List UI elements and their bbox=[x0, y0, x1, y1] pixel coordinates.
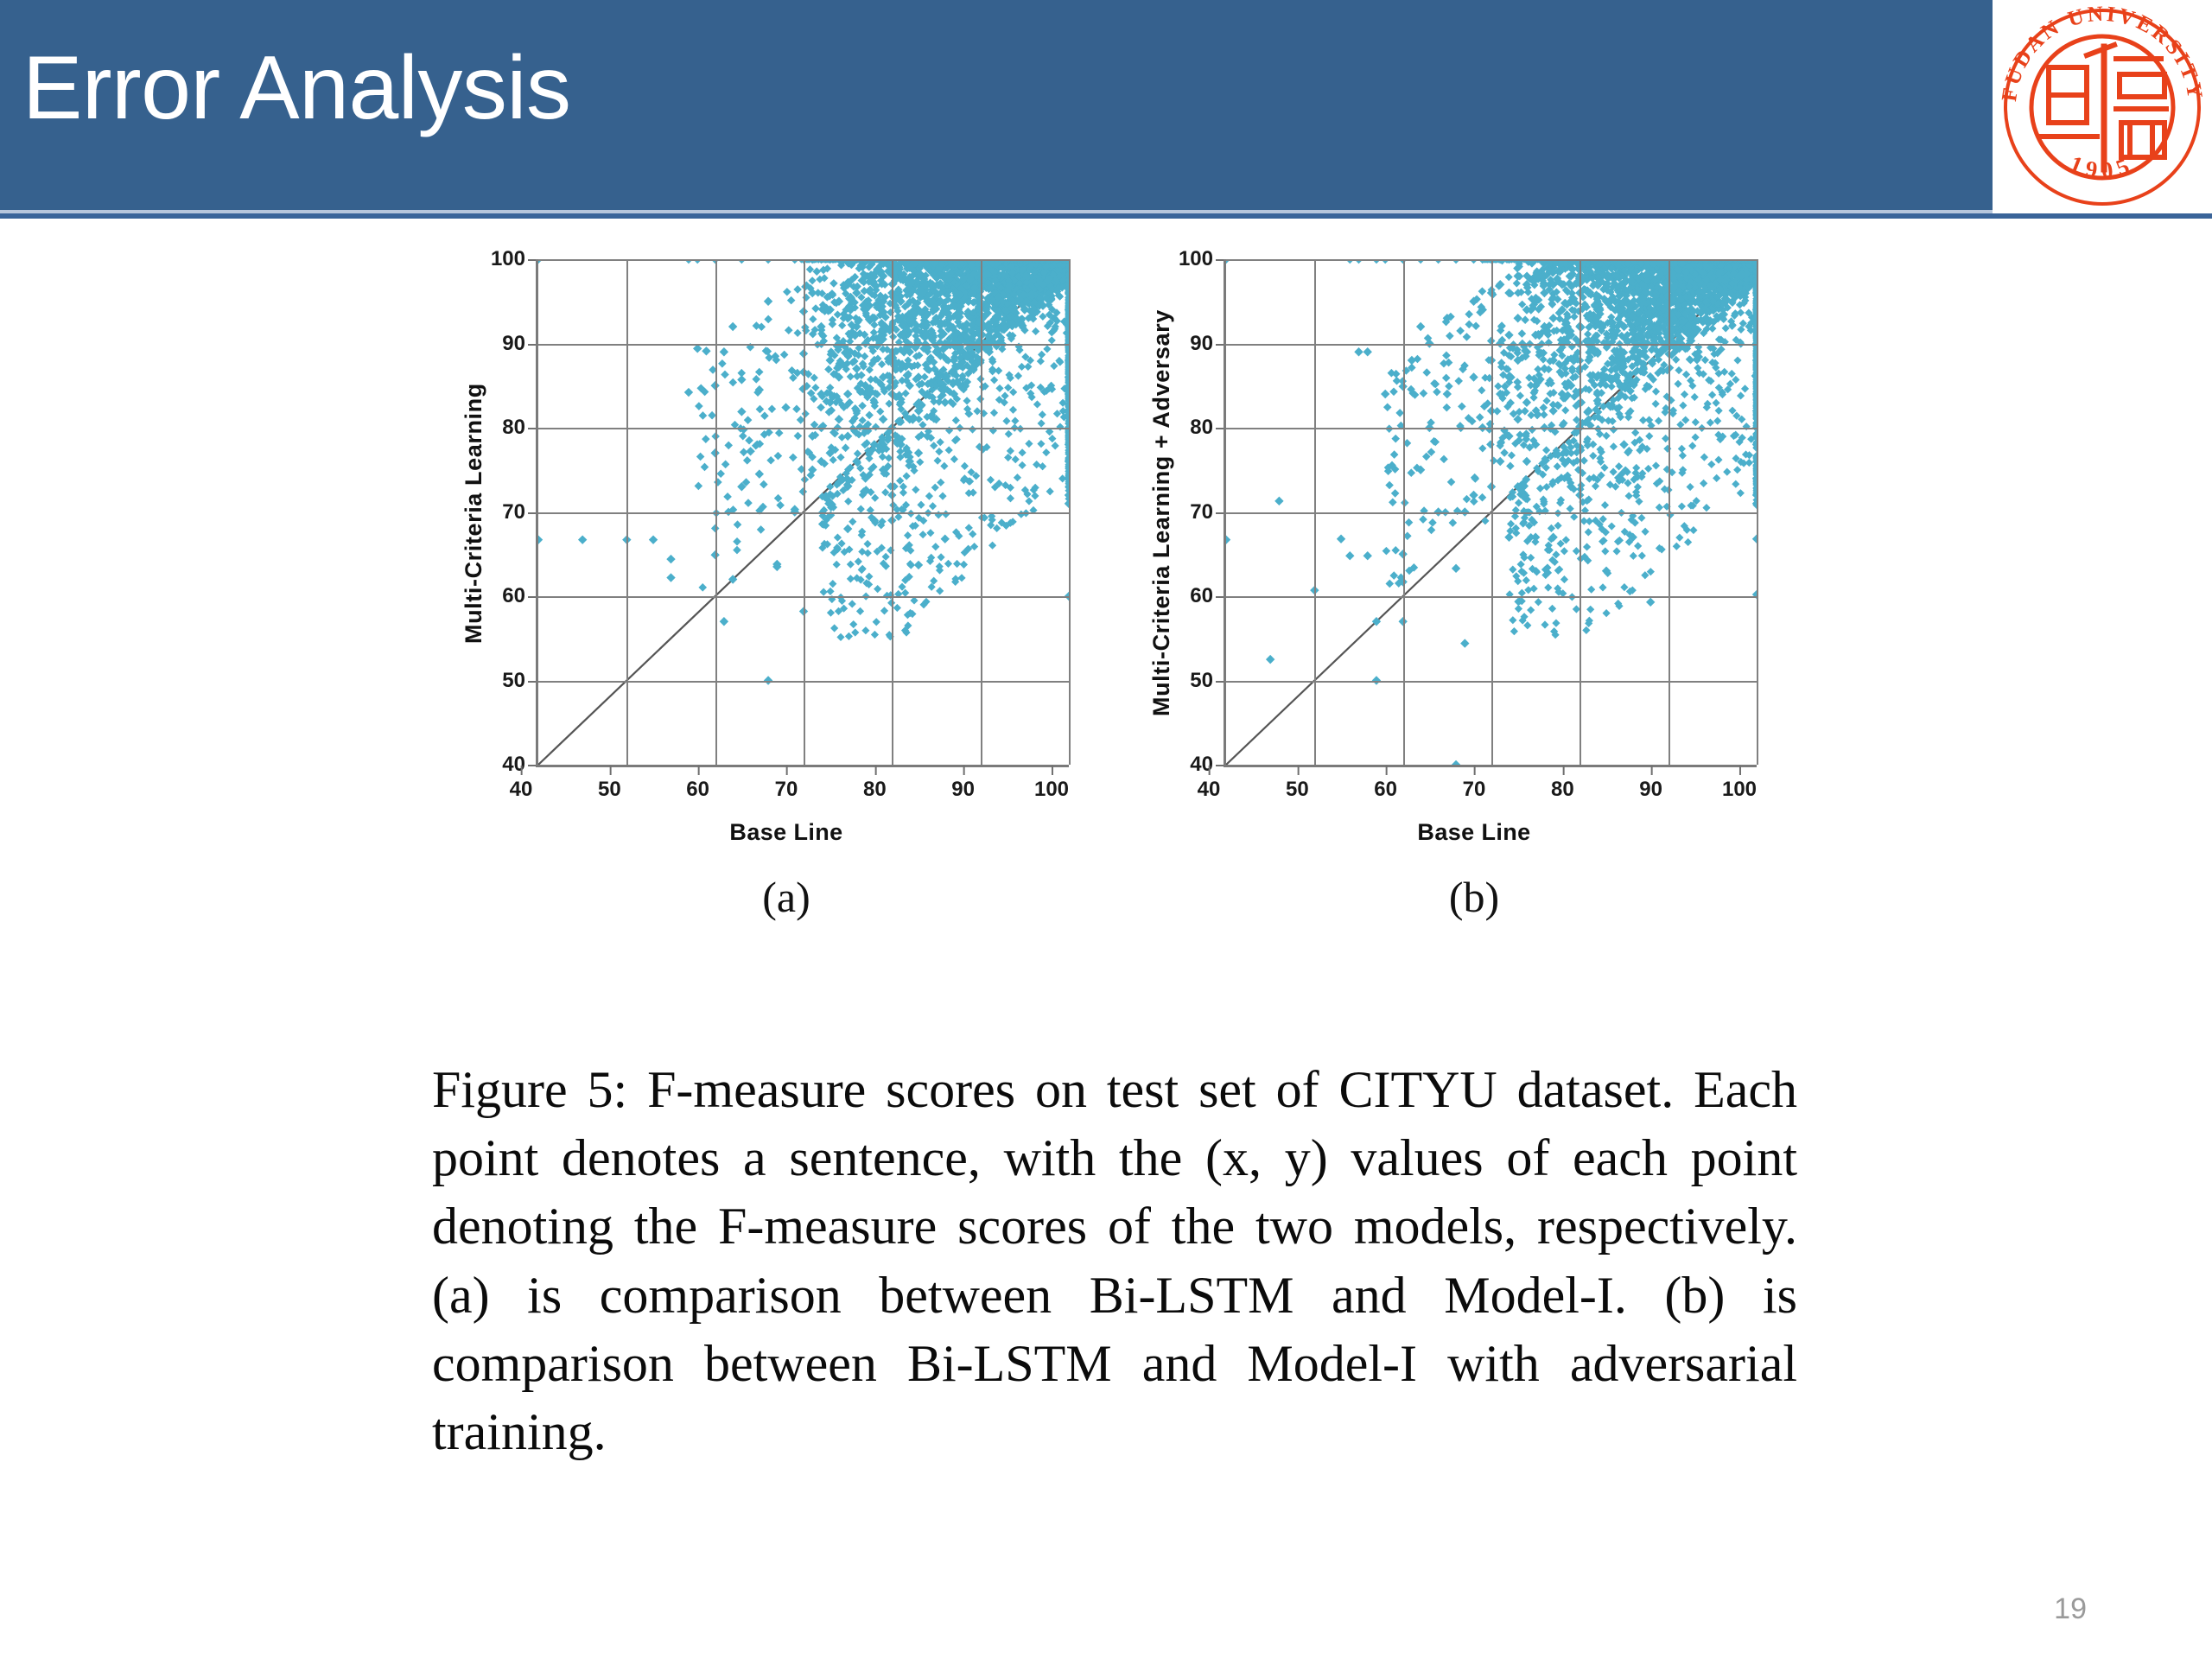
scatter-point bbox=[1522, 457, 1531, 466]
scatter-point bbox=[827, 609, 835, 617]
scatter-point bbox=[1038, 351, 1046, 359]
scatter-point bbox=[1542, 446, 1550, 454]
scatter-point bbox=[733, 537, 741, 546]
scatter-point bbox=[776, 501, 785, 510]
scatter-point bbox=[849, 620, 857, 628]
scatter-point bbox=[858, 548, 866, 556]
scatter-point bbox=[843, 390, 852, 398]
scatter-point bbox=[865, 573, 873, 581]
scatter-point bbox=[1004, 454, 1012, 461]
scatter-point bbox=[734, 520, 742, 529]
scatter-point bbox=[733, 546, 741, 555]
scatter-point bbox=[847, 575, 855, 582]
scatter-point bbox=[861, 626, 869, 634]
scatter-point bbox=[1009, 406, 1017, 414]
scatter-point bbox=[783, 288, 791, 296]
a-gridline-x-60 bbox=[715, 259, 717, 765]
a-gridline-x-50 bbox=[626, 259, 628, 765]
scatter-point bbox=[737, 369, 746, 378]
scatter-point bbox=[1226, 535, 1230, 543]
a-ytick-70: 70 bbox=[502, 500, 525, 524]
scatter-point bbox=[811, 304, 820, 313]
scatter-point bbox=[855, 557, 862, 565]
a-ytick-50: 50 bbox=[502, 669, 525, 693]
scatter-point bbox=[740, 448, 748, 457]
chart-a-xaxis-ticks: 405060708090100 bbox=[521, 767, 1052, 807]
scatter-point bbox=[917, 501, 925, 509]
chart-b-yaxis-ticks: 405060708090100 bbox=[1175, 259, 1224, 765]
scatter-point bbox=[961, 462, 969, 470]
scatter-point bbox=[880, 607, 888, 614]
chart-panel-a: Multi-Criteria Learning 405060708090100 … bbox=[455, 259, 1069, 922]
scatter-point bbox=[698, 583, 707, 592]
scatter-point bbox=[743, 456, 752, 465]
scatter-point bbox=[844, 498, 852, 505]
scatter-point bbox=[1534, 365, 1541, 373]
scatter-point bbox=[1478, 386, 1485, 394]
scatter-point bbox=[903, 472, 911, 480]
scatter-point bbox=[1033, 400, 1041, 408]
scatter-point bbox=[1039, 313, 1046, 321]
scatter-point bbox=[702, 435, 710, 443]
scatter-point bbox=[701, 463, 709, 472]
b-ytick-80: 80 bbox=[1190, 416, 1213, 440]
scatter-point bbox=[1548, 301, 1556, 308]
scatter-point bbox=[879, 453, 887, 461]
scatter-point bbox=[914, 448, 923, 457]
scatter-point bbox=[746, 447, 754, 455]
scatter-point bbox=[879, 415, 887, 423]
scatter-point bbox=[936, 587, 944, 594]
scatter-point bbox=[1019, 448, 1027, 456]
chart-a-panel-letter: (a) bbox=[762, 872, 810, 922]
scatter-point bbox=[723, 493, 732, 501]
scatter-point bbox=[764, 315, 772, 324]
scatter-point bbox=[988, 542, 996, 550]
scatter-point bbox=[693, 344, 702, 353]
scatter-point bbox=[935, 448, 943, 455]
scatter-point bbox=[863, 540, 871, 548]
scatter-point bbox=[1481, 517, 1489, 524]
scatter-point bbox=[1505, 273, 1513, 281]
chart-a-plot-area: Multi-Criteria Learning 405060708090100 bbox=[455, 259, 1069, 767]
a-xtick-100: 100 bbox=[1034, 778, 1069, 802]
scatter-point bbox=[1522, 398, 1531, 407]
page-title: Error Analysis bbox=[22, 41, 571, 136]
chart-a-canvas bbox=[536, 259, 1069, 767]
scatter-point bbox=[865, 411, 874, 420]
scatter-point bbox=[1416, 322, 1425, 331]
scatter-point bbox=[838, 321, 846, 329]
chart-b-canvas bbox=[1224, 259, 1757, 767]
scatter-point bbox=[1337, 535, 1345, 543]
scatter-point bbox=[987, 476, 995, 484]
scatter-point bbox=[789, 454, 798, 462]
scatter-point bbox=[953, 560, 961, 568]
scatter-point bbox=[1032, 327, 1039, 335]
scatter-point bbox=[721, 461, 730, 469]
a-ytick-90: 90 bbox=[502, 332, 525, 356]
scatter-point bbox=[835, 415, 843, 423]
scatter-point bbox=[1031, 492, 1039, 499]
scatter-point bbox=[702, 346, 710, 355]
b-ytick-70: 70 bbox=[1190, 500, 1213, 524]
scatter-point bbox=[809, 276, 817, 284]
scatter-point bbox=[878, 360, 886, 368]
scatter-point bbox=[1018, 363, 1026, 371]
scatter-point bbox=[774, 494, 783, 503]
scatter-point bbox=[737, 407, 746, 416]
scatter-point bbox=[720, 617, 728, 626]
scatter-point bbox=[785, 326, 793, 334]
scatter-point bbox=[1046, 487, 1054, 495]
header-divider bbox=[0, 213, 2212, 219]
scatter-point bbox=[1037, 357, 1045, 365]
scatter-point bbox=[695, 482, 703, 491]
chart-panel-b: Multi-Criteria Learning + Adversary 4050… bbox=[1143, 259, 1757, 922]
b-ytick-90: 90 bbox=[1190, 332, 1213, 356]
scatter-point bbox=[1001, 391, 1008, 399]
a-xtick-50: 50 bbox=[598, 778, 621, 802]
scatter-point bbox=[829, 316, 836, 324]
scatter-point bbox=[1274, 497, 1283, 505]
scatter-point bbox=[755, 469, 764, 478]
chart-b-plot-area: Multi-Criteria Learning + Adversary 4050… bbox=[1143, 259, 1757, 767]
scatter-point bbox=[1033, 461, 1040, 468]
scatter-point bbox=[944, 560, 952, 568]
scatter-point bbox=[578, 535, 587, 543]
chart-b-ylabel: Multi-Criteria Learning + Adversary bbox=[1143, 259, 1175, 767]
a-gridline-x-100 bbox=[1069, 259, 1071, 765]
scatter-point bbox=[934, 457, 942, 465]
scatter-point bbox=[1469, 372, 1478, 381]
scatter-point bbox=[1266, 655, 1274, 664]
scatter-point bbox=[728, 378, 737, 387]
scatter-point bbox=[765, 353, 773, 362]
scatter-point bbox=[766, 456, 775, 465]
scatter-point bbox=[1014, 474, 1021, 481]
scatter-point bbox=[695, 402, 703, 410]
scatter-point bbox=[1012, 455, 1020, 463]
a-xtick-80: 80 bbox=[863, 778, 887, 802]
scatter-point bbox=[1004, 384, 1012, 391]
charts-row: Multi-Criteria Learning 405060708090100 … bbox=[0, 259, 2212, 922]
scatter-point bbox=[793, 285, 802, 294]
scatter-point bbox=[1584, 330, 1592, 338]
scatter-point bbox=[768, 404, 777, 413]
scatter-point bbox=[752, 375, 760, 384]
scatter-point bbox=[847, 561, 855, 569]
scatter-point bbox=[950, 455, 958, 463]
scatter-point bbox=[990, 376, 998, 384]
scatter-point bbox=[876, 408, 884, 416]
scatter-point bbox=[1007, 494, 1014, 502]
scatter-point bbox=[1646, 598, 1655, 607]
scatter-point bbox=[919, 531, 927, 538]
scatter-point bbox=[1039, 462, 1046, 470]
scatter-point bbox=[745, 436, 753, 445]
scatter-point bbox=[929, 502, 937, 510]
chart-a-ylabel: Multi-Criteria Learning bbox=[455, 259, 487, 767]
scatter-point bbox=[843, 524, 852, 533]
scatter-point bbox=[744, 499, 753, 507]
scatter-point bbox=[811, 384, 819, 391]
scatter-point bbox=[861, 353, 868, 360]
scatter-point bbox=[926, 529, 934, 537]
scatter-point bbox=[1014, 372, 1022, 379]
scatter-point bbox=[856, 607, 864, 615]
slide-header-bar: Error Analysis bbox=[0, 0, 1993, 210]
b-ytick-100: 100 bbox=[1179, 247, 1213, 271]
scatter-point bbox=[1527, 381, 1535, 389]
scatter-point bbox=[931, 543, 939, 550]
scatter-point bbox=[874, 585, 881, 593]
scatter-point bbox=[854, 449, 861, 457]
scatter-point bbox=[852, 365, 861, 373]
scatter-point bbox=[945, 446, 953, 454]
scatter-point bbox=[995, 366, 1002, 374]
a-xtick-40: 40 bbox=[510, 778, 533, 802]
scatter-point bbox=[969, 530, 976, 537]
scatter-point bbox=[1354, 347, 1363, 356]
scatter-point bbox=[834, 533, 842, 541]
scatter-point bbox=[912, 486, 919, 493]
scatter-point bbox=[720, 347, 728, 356]
a-ytick-80: 80 bbox=[502, 416, 525, 440]
scatter-point bbox=[781, 403, 790, 411]
scatter-point bbox=[829, 580, 836, 588]
scatter-point bbox=[760, 480, 768, 489]
scatter-point bbox=[914, 561, 923, 569]
scatter-point bbox=[1513, 279, 1521, 287]
scatter-point bbox=[937, 479, 944, 486]
scatter-point bbox=[1545, 339, 1553, 346]
scatter-point bbox=[1018, 461, 1026, 469]
scatter-point bbox=[764, 297, 772, 306]
scatter-point bbox=[666, 555, 675, 563]
scatter-point bbox=[787, 296, 796, 305]
scatter-point bbox=[921, 373, 929, 381]
scatter-point bbox=[1561, 406, 1569, 414]
scatter-point bbox=[757, 525, 766, 534]
scatter-point bbox=[794, 329, 802, 337]
scatter-point bbox=[937, 438, 944, 446]
b-ytick-60: 60 bbox=[1190, 584, 1213, 608]
logo-panel: FUDAN UNIVERSITY 1905 bbox=[1993, 0, 2212, 213]
chart-a-xlabel: Base Line bbox=[729, 819, 842, 846]
scatter-point bbox=[960, 561, 968, 569]
scatter-point bbox=[1038, 419, 1046, 427]
scatter-point bbox=[721, 371, 729, 379]
scatter-point bbox=[1009, 388, 1017, 396]
scatter-point bbox=[871, 494, 879, 502]
scatter-point bbox=[755, 368, 764, 377]
scatter-point bbox=[1542, 397, 1550, 404]
scatter-point bbox=[1050, 362, 1058, 370]
scatter-point bbox=[871, 631, 879, 639]
scatter-point bbox=[1345, 551, 1354, 560]
scatter-point bbox=[904, 531, 912, 539]
scatter-point bbox=[716, 469, 725, 478]
scatter-point bbox=[829, 279, 838, 288]
scatter-point bbox=[724, 442, 733, 450]
scatter-point bbox=[836, 454, 844, 461]
scatter-point bbox=[851, 628, 859, 636]
a-ytick-60: 60 bbox=[502, 584, 525, 608]
scatter-point bbox=[1052, 442, 1059, 449]
scatter-point bbox=[952, 416, 960, 424]
scatter-point bbox=[1042, 448, 1050, 456]
scatter-point bbox=[916, 458, 924, 466]
a-ytick-100: 100 bbox=[491, 247, 525, 271]
scatter-point bbox=[1002, 417, 1010, 425]
scatter-point bbox=[873, 618, 880, 626]
scatter-point bbox=[1005, 430, 1013, 438]
a-gridline-x-80 bbox=[892, 259, 893, 765]
scatter-point bbox=[1039, 410, 1046, 418]
scatter-point bbox=[780, 351, 789, 359]
scatter-point bbox=[864, 550, 872, 557]
scatter-point bbox=[728, 322, 737, 331]
scatter-point bbox=[649, 535, 658, 543]
scatter-point bbox=[941, 535, 950, 543]
chart-a-yaxis-ticks: 405060708090100 bbox=[487, 259, 536, 765]
scatter-point bbox=[1025, 440, 1033, 448]
scatter-point bbox=[1496, 457, 1504, 466]
scatter-point bbox=[925, 493, 933, 500]
scatter-point bbox=[1460, 639, 1469, 647]
scatter-point bbox=[1508, 451, 1516, 459]
scatter-point bbox=[666, 573, 675, 582]
scatter-point bbox=[893, 604, 901, 612]
scatter-point bbox=[858, 402, 867, 410]
scatter-point bbox=[538, 535, 543, 543]
scatter-point bbox=[792, 405, 801, 414]
scatter-point bbox=[696, 453, 705, 461]
scatter-point bbox=[995, 385, 1003, 392]
scatter-point bbox=[902, 390, 910, 397]
scatter-point bbox=[817, 404, 825, 412]
scatter-point bbox=[940, 462, 948, 470]
scatter-point bbox=[838, 434, 846, 442]
a-gridline-x-90 bbox=[981, 259, 982, 765]
scatter-point bbox=[1011, 416, 1019, 424]
scatter-point bbox=[739, 432, 747, 441]
scatter-point bbox=[1504, 331, 1513, 340]
scatter-point bbox=[930, 442, 938, 449]
scatter-point bbox=[1037, 440, 1045, 448]
scatter-point bbox=[1452, 760, 1460, 765]
scatter-point bbox=[756, 405, 765, 414]
scatter-point bbox=[830, 624, 838, 632]
scatter-point bbox=[931, 484, 939, 492]
scatter-point bbox=[1363, 551, 1372, 560]
scatter-point bbox=[990, 409, 998, 416]
scatter-point bbox=[849, 600, 856, 607]
scatter-point bbox=[849, 518, 856, 525]
scatter-point bbox=[965, 524, 973, 531]
scatter-point bbox=[812, 267, 821, 276]
scatter-point bbox=[1048, 435, 1056, 442]
a-gridline-x-70 bbox=[804, 259, 805, 765]
scatter-point bbox=[820, 588, 828, 596]
scatter-point bbox=[938, 493, 946, 500]
scatter-point bbox=[836, 633, 844, 641]
scatter-point bbox=[1443, 390, 1452, 398]
scatter-point bbox=[1619, 440, 1628, 448]
scatter-point bbox=[775, 429, 784, 437]
a-xtick-60: 60 bbox=[686, 778, 709, 802]
scatter-point bbox=[899, 489, 907, 497]
scatter-point bbox=[1043, 345, 1051, 353]
scatter-point bbox=[1494, 382, 1502, 390]
scatter-point bbox=[806, 265, 814, 273]
scatter-point bbox=[826, 588, 834, 595]
scatter-point bbox=[744, 416, 753, 424]
scatter-point bbox=[1514, 314, 1522, 322]
scatter-point bbox=[937, 553, 944, 561]
scatter-point bbox=[684, 388, 693, 397]
scatter-point bbox=[1381, 390, 1389, 398]
scatter-point bbox=[1025, 497, 1033, 505]
fudan-university-seal-icon: FUDAN UNIVERSITY 1905 bbox=[2000, 5, 2204, 209]
scatter-point bbox=[845, 632, 853, 640]
scatter-point bbox=[1452, 564, 1460, 573]
scatter-point bbox=[963, 397, 970, 404]
scatter-point bbox=[847, 372, 855, 380]
scatter-point bbox=[969, 425, 976, 433]
scatter-point bbox=[842, 444, 850, 453]
a-xtick-70: 70 bbox=[775, 778, 798, 802]
a-xtick-90: 90 bbox=[951, 778, 975, 802]
scatter-point bbox=[809, 315, 817, 323]
figure-block: Multi-Criteria Learning 405060708090100 … bbox=[0, 259, 2212, 922]
scatter-point bbox=[957, 574, 965, 582]
scatter-point bbox=[1504, 533, 1513, 542]
scatter-point bbox=[774, 452, 783, 461]
scatter-point bbox=[760, 411, 769, 420]
scatter-point bbox=[833, 561, 841, 569]
scatter-point bbox=[1478, 444, 1486, 452]
scatter-point bbox=[1007, 447, 1014, 454]
b-ytick-50: 50 bbox=[1190, 669, 1213, 693]
scatter-point bbox=[1363, 347, 1372, 356]
scatter-point bbox=[699, 411, 708, 420]
scatter-point bbox=[794, 432, 803, 441]
scatter-point bbox=[718, 359, 727, 368]
scatter-point bbox=[882, 553, 890, 561]
